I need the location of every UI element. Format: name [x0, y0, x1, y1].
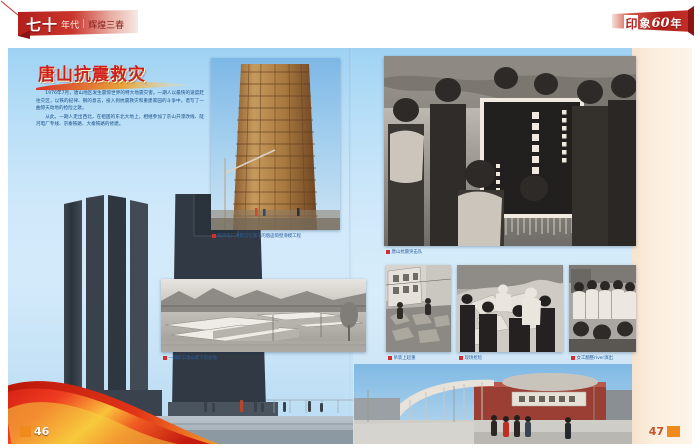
magazine-spread: 七十 年代 | 辉煌三春 印 象 60 年	[0, 0, 700, 448]
caption-text: 现场抢险	[465, 355, 483, 361]
right-page-number: 47	[649, 425, 680, 438]
photo-memorial-hall-image	[354, 364, 632, 444]
caption-text: 吊装上起重	[394, 355, 416, 361]
caption-bullet-icon	[571, 356, 575, 360]
ribbon-era-label: 七十	[26, 14, 58, 35]
ribbon-subtitle: 辉煌三春	[88, 18, 124, 31]
series-ribbon-banner: 印 象 60 年	[612, 6, 694, 40]
photo-rescue-crane-caption: 吊装上起重	[388, 355, 415, 361]
caption-bullet-icon	[388, 356, 392, 360]
caption-text: 女工翻整river演出	[577, 355, 613, 361]
article-paragraph-1: 1976年7月，唐山地区发生震惊世界的特大地震灾害。一期人以最快的速度赶往灾区，…	[36, 90, 204, 113]
spread-canvas: 唐山抗震救灾 1976年7月，唐山地区发生震惊世界的特大地震灾害。一期人以最快的…	[8, 46, 692, 444]
photo-shock-team-image	[384, 56, 636, 246]
right-page-cream-panel	[632, 46, 692, 444]
caption-bullet-icon	[459, 356, 463, 360]
photo-shock-team	[384, 56, 636, 246]
article-body: 1976年7月，唐山地区发生震惊世界的特大地震灾害。一期人以最快的速度赶往灾区，…	[36, 90, 204, 130]
page-title: 唐山抗震救灾	[38, 60, 146, 85]
era-ribbon-banner: 七十 年代 | 辉煌三春	[18, 9, 138, 39]
ribbon-era-suffix: 年代	[61, 18, 79, 31]
series-number-label: 60	[651, 16, 669, 31]
series-unit-label: 年	[671, 15, 682, 31]
photo-rescue-site-image	[457, 265, 563, 352]
page-number-left-value: 46	[31, 425, 49, 438]
caption-text: 陡河电厂项目正在施工的烟囱筒壁滑模工程	[218, 233, 301, 239]
page-number-chip	[20, 426, 31, 437]
series-mark-label: 印	[624, 15, 638, 32]
photo-workers-line-image	[569, 265, 636, 352]
photo-rescue-site	[457, 265, 563, 352]
photo-workers-line	[569, 265, 636, 352]
photo-chimney-caption: 陡河电厂项目正在施工的烟囱筒壁滑模工程	[212, 233, 301, 239]
photo-chimney-image	[211, 58, 340, 230]
photo-rescue-site-caption: 现场抢险	[459, 355, 482, 361]
page-number-chip	[667, 426, 680, 437]
ribbon-text-group: 七十 年代 | 辉煌三春	[18, 9, 138, 39]
caption-bullet-icon	[386, 250, 390, 254]
article-paragraph-2: 从此，一期人走出西北，在祖国的东北大地上，相继参加了京山开滦改线、陡河电厂专线、…	[36, 114, 204, 129]
photo-barracks	[161, 279, 366, 352]
article-title-group: 唐山抗震救灾	[34, 60, 209, 90]
photo-memorial-hall	[354, 364, 632, 444]
left-page-number: 46	[20, 425, 49, 438]
photo-rescue-crane-image	[386, 265, 451, 352]
caption-bullet-icon	[212, 234, 216, 238]
page-number-right-value: 47	[649, 425, 664, 438]
photo-rescue-crane	[386, 265, 451, 352]
photo-chimney	[211, 58, 340, 230]
series-ribbon-text-group: 印 象 60 年	[612, 6, 694, 40]
ribbon-separator: |	[82, 19, 85, 29]
photo-barracks-image	[161, 279, 366, 352]
caption-text: 唐山抗震突击队	[392, 249, 423, 255]
photo-workers-line-caption: 女工翻整river演出	[571, 355, 613, 361]
series-word-label: 象	[639, 15, 650, 31]
photo-shock-team-caption: 唐山抗震突击队	[386, 249, 422, 255]
